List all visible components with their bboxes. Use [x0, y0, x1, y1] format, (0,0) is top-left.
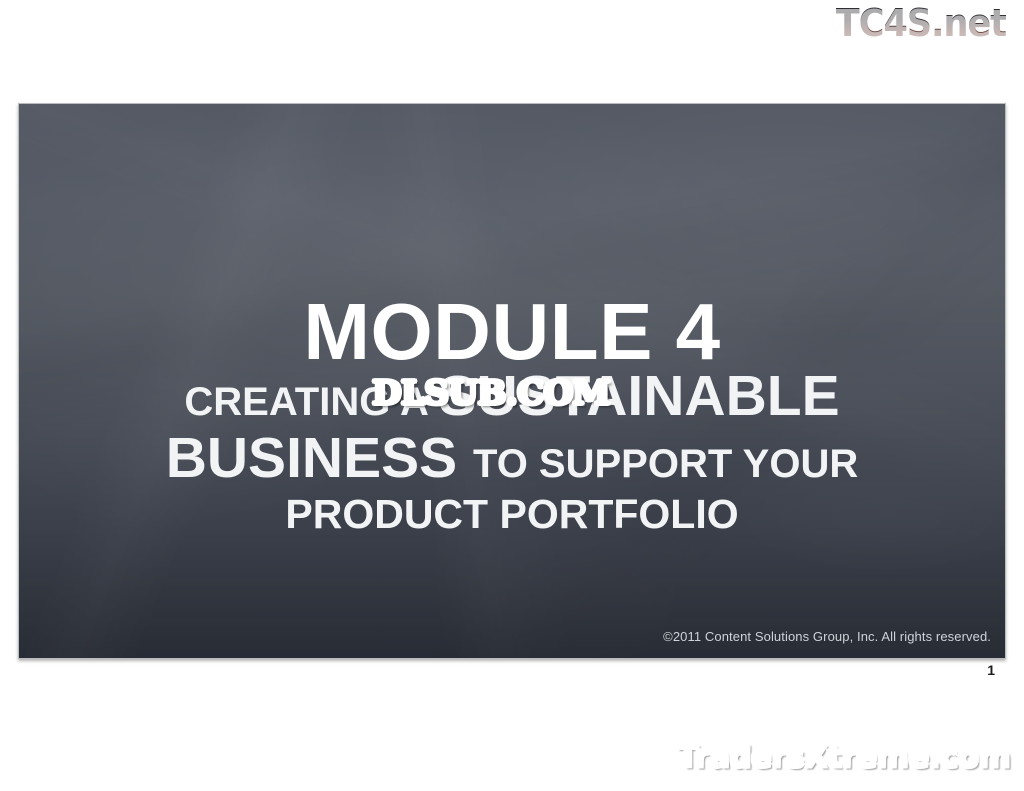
page-number: 1	[0, 662, 995, 678]
subtitle-line-2-big: BUSINESS	[166, 426, 473, 490]
copyright-notice: ©2011 Content Solutions Group, Inc. All …	[663, 629, 991, 644]
subtitle-line-3: PRODUCT PORTFOLIO	[59, 493, 965, 536]
subtitle-line-2-small: TO SUPPORT YOUR	[473, 442, 858, 486]
site-logo: TC4S.net	[836, 4, 1006, 42]
dlsub-watermark: DLSUB.COM	[372, 376, 610, 409]
subtitle-line-2: BUSINESS TO SUPPORT YOUR	[59, 428, 965, 488]
slide-title: MODULE 4	[19, 292, 1005, 372]
tradersxtreme-logo: TradersXtreme.com	[677, 742, 1010, 773]
